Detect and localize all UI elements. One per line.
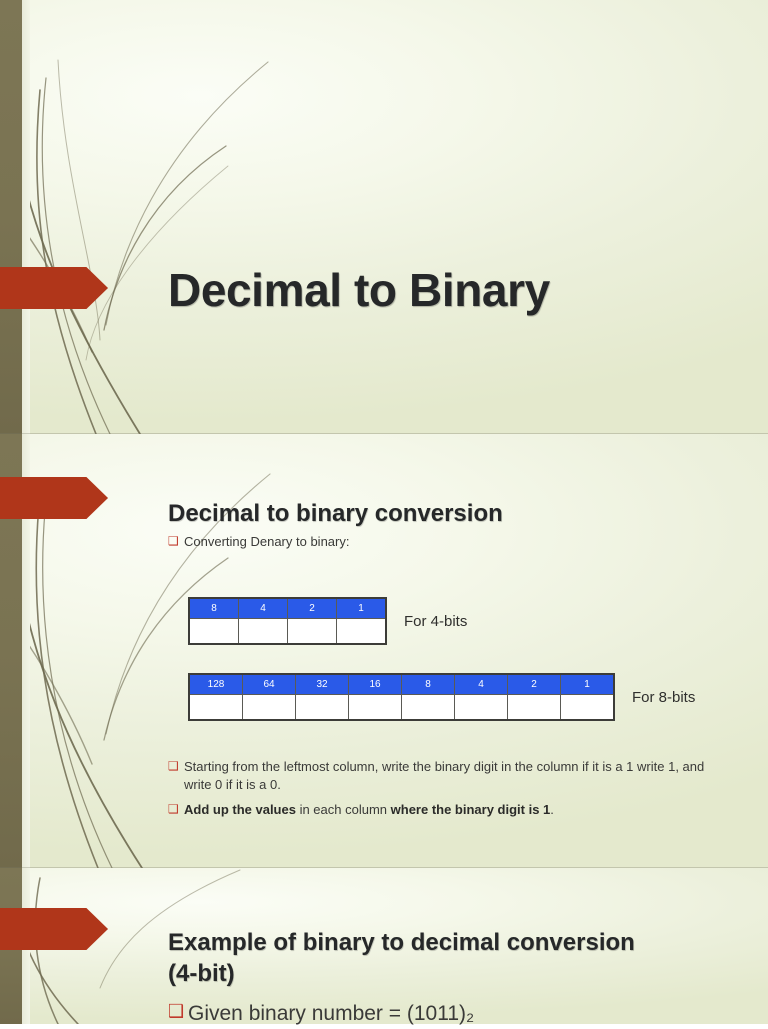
eight-bit-table-group: 128 64 32 16 8 4 2 1 [188,673,695,721]
bullet-marker-icon: ❑ [168,1000,188,1024]
bullet-marker-icon: ❑ [168,801,184,817]
table-header-cell: 2 [288,598,337,619]
step-two-middle: in each column [296,802,391,817]
table-cell[interactable] [243,695,296,721]
table-row [189,619,386,645]
step-bullet-row: ❑ Add up the values in each column where… [168,801,716,819]
four-bit-table: 8 4 2 1 [188,597,387,645]
table-row [189,695,614,721]
step-two-lead: Add up the values [184,802,296,817]
conversion-heading: Decimal to binary conversion [168,499,503,530]
table-header-cell: 16 [349,674,402,695]
step-two-text: Add up the values in each column where t… [184,801,554,819]
bullet-marker-icon: ❑ [168,758,184,774]
table-cell[interactable] [508,695,561,721]
table-header-cell: 1 [561,674,615,695]
table-header-cell: 4 [455,674,508,695]
table-cell[interactable] [239,619,288,645]
intro-bullet-row: ❑ Converting Denary to binary: [168,533,708,551]
eight-bit-table: 128 64 32 16 8 4 2 1 [188,673,615,721]
table-cell[interactable] [189,695,243,721]
eight-bit-caption: For 8-bits [632,689,695,706]
table-cell[interactable] [455,695,508,721]
table-cell[interactable] [349,695,402,721]
step-one-text: Starting from the leftmost column, write… [184,758,716,794]
left-light-band [22,0,30,434]
grass-decoration-icon [0,0,300,434]
four-bit-caption: For 4-bits [404,613,467,630]
step-two-tail: where the binary digit is 1 [391,802,551,817]
table-header-cell: 8 [402,674,455,695]
accent-chevron [0,908,108,950]
table-header-cell: 4 [239,598,288,619]
table-header-cell: 128 [189,674,243,695]
table-header-row: 8 4 2 1 [189,598,386,619]
table-header-row: 128 64 32 16 8 4 2 1 [189,674,614,695]
table-header-cell: 8 [189,598,239,619]
table-cell[interactable] [337,619,387,645]
step-two-end: . [550,802,554,817]
table-cell[interactable] [288,619,337,645]
given-bullet-text: Given binary number = (1011)₂ [188,1000,474,1029]
four-bit-table-group: 8 4 2 1 For 4-bits [188,597,467,645]
table-header-cell: 64 [243,674,296,695]
accent-chevron [0,267,108,309]
left-olive-stripe [0,0,22,434]
table-cell[interactable] [189,619,239,645]
given-bullet-row: ❑ Given binary number = (1011)₂ [168,1000,728,1029]
intro-bullet-text: Converting Denary to binary: [184,533,349,551]
slide-title: Decimal to Binary [0,0,768,434]
step-bullet-row: ❑ Starting from the leftmost column, wri… [168,758,716,794]
slide-deck: Decimal to Binary Decimal to binary conv… [0,0,768,1024]
bullet-marker-icon: ❑ [168,533,184,549]
page-title: Decimal to Binary [168,265,728,317]
table-header-cell: 32 [296,674,349,695]
table-header-cell: 1 [337,598,387,619]
table-cell[interactable] [561,695,615,721]
table-cell[interactable] [296,695,349,721]
accent-chevron [0,477,108,519]
table-cell[interactable] [402,695,455,721]
example-heading: Example of binary to decimal conversion … [168,928,638,989]
table-header-cell: 2 [508,674,561,695]
